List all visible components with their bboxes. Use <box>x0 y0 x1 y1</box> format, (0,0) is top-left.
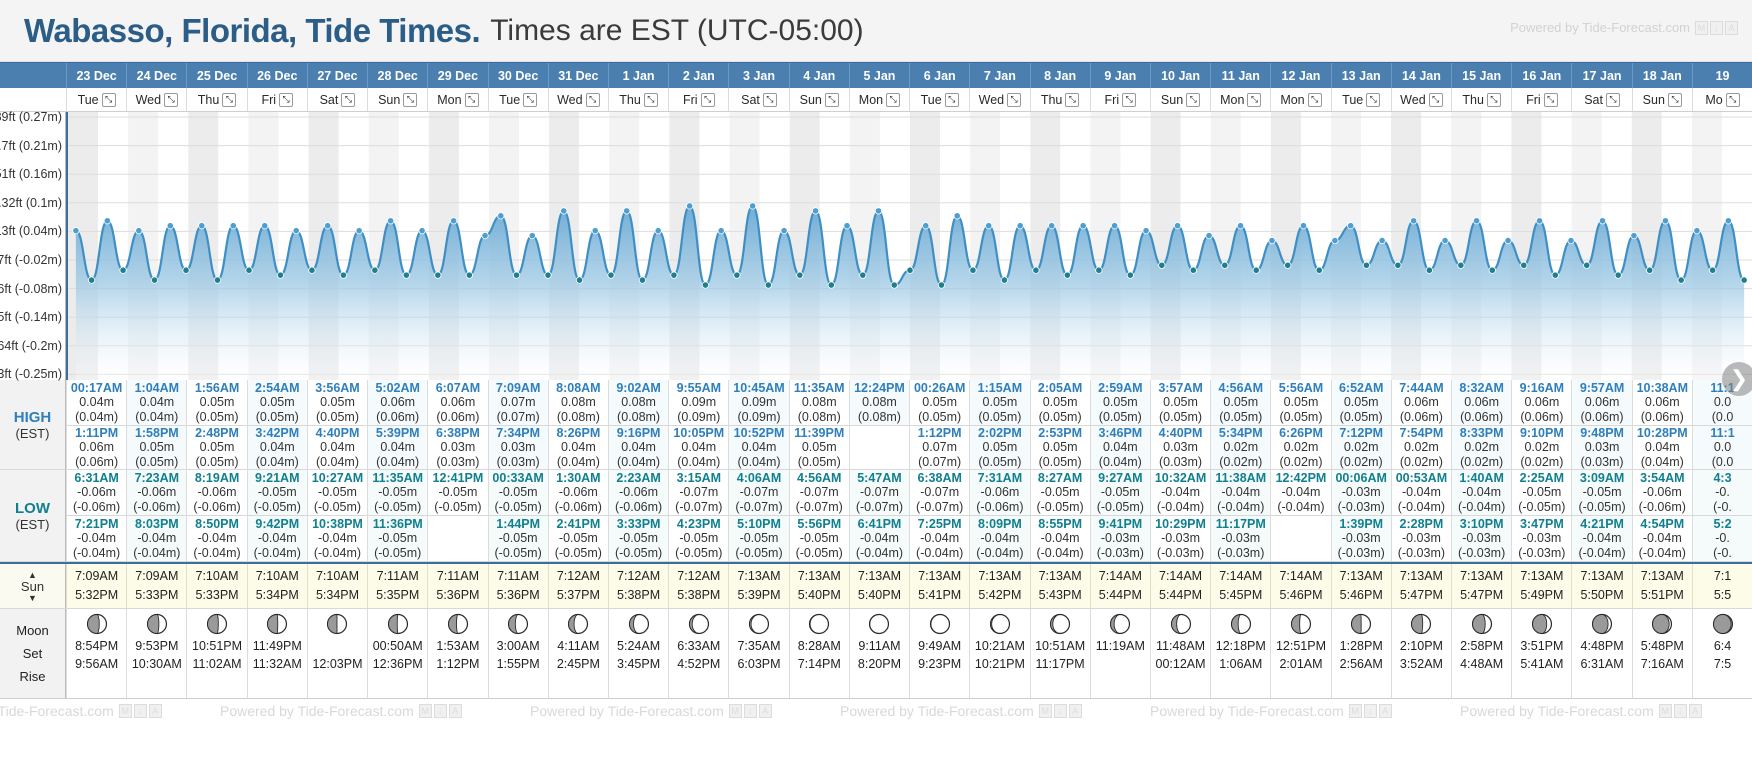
weekday-header-cell[interactable]: Mon⤡ <box>427 88 487 111</box>
tide-cell[interactable]: 1:15AM0.05m(0.05m) <box>969 380 1029 426</box>
moonset-time: 11:48AM <box>1156 637 1205 655</box>
date-header-cell[interactable]: 16 Jan <box>1511 63 1571 88</box>
date-header-cell[interactable]: 30 Dec <box>488 63 548 88</box>
tide-height: 0.02m <box>1284 440 1319 454</box>
sunset-time: 5:38PM <box>617 586 660 605</box>
weekday-header-cell[interactable]: Tue⤡ <box>1331 88 1391 111</box>
tide-cell[interactable]: 6:41PM-0.04m(-0.04m) <box>849 516 909 562</box>
tide-height-alt: (-0.04m) <box>73 546 120 560</box>
weekday-header-cell[interactable]: Tue⤡ <box>909 88 969 111</box>
tide-cell[interactable]: 7:34PM0.03m(0.03m) <box>488 426 548 470</box>
date-header-cell[interactable]: 25 Dec <box>186 63 246 88</box>
tide-height: -0.05m <box>499 485 538 499</box>
tide-cell[interactable]: 1:04AM0.04m(0.04m) <box>126 380 186 426</box>
expand-icon[interactable]: ⤡ <box>825 93 839 107</box>
tide-cell[interactable]: 10:38AM0.06m(0.06m) <box>1632 380 1692 426</box>
tide-height-alt: (0.04m) <box>135 410 178 424</box>
tide-cell[interactable]: 10:28PM0.04m(0.04m) <box>1632 426 1692 470</box>
tide-cell[interactable]: 5:47AM-0.07m(-0.07m) <box>849 470 909 516</box>
tide-cell[interactable]: 8:32AM0.06m(0.06m) <box>1451 380 1511 426</box>
expand-icon[interactable]: ⤡ <box>1606 93 1620 107</box>
tide-cell[interactable]: 4:56AM0.05m(0.05m) <box>1210 380 1270 426</box>
tide-time: 6:07AM <box>436 381 480 395</box>
tide-cell[interactable]: 9:48PM0.03m(0.03m) <box>1571 426 1631 470</box>
expand-icon[interactable]: ⤡ <box>222 93 236 107</box>
sunset-time: 5:45PM <box>1219 586 1262 605</box>
expand-icon[interactable]: ⤡ <box>1122 93 1136 107</box>
moonset-time: 10:21AM <box>975 637 1025 655</box>
badge-icon-2: A <box>449 704 462 718</box>
date-header-cell[interactable]: 23 Dec <box>66 63 126 88</box>
date-header-cell[interactable]: 7 Jan <box>969 63 1029 88</box>
tide-plot-area[interactable] <box>66 112 1752 380</box>
tide-time: 1:40AM <box>1459 471 1503 485</box>
tide-cell[interactable]: 6:38AM-0.07m(-0.07m) <box>909 470 969 516</box>
tide-cell[interactable]: 10:52PM0.04m(0.04m) <box>728 426 788 470</box>
tide-cell[interactable]: 3:57AM0.05m(0.05m) <box>1150 380 1210 426</box>
tide-cell[interactable]: 1:40AM-0.04m(-0.04m) <box>1451 470 1511 516</box>
tide-cell[interactable]: 9:42PM-0.04m(-0.04m) <box>247 516 307 562</box>
y-axis-tick-label: -0.64ft (-0.2m) <box>0 339 62 353</box>
moonset-time: 9:53PM <box>135 637 178 655</box>
tide-height: 0.08m <box>621 395 656 409</box>
tide-extremum-marker <box>1127 272 1133 278</box>
tide-extremum-marker <box>1190 267 1196 273</box>
date-header-cell[interactable]: 18 Jan <box>1632 63 1692 88</box>
tide-cell[interactable]: 9:21AM-0.05m(-0.05m) <box>247 470 307 516</box>
tide-cell[interactable]: 10:29PM-0.03m(-0.03m) <box>1150 516 1210 562</box>
expand-icon[interactable]: ⤡ <box>1186 93 1200 107</box>
date-header-cell[interactable]: 15 Jan <box>1451 63 1511 88</box>
badge-icon-1: ↓ <box>1054 704 1067 718</box>
tide-cell[interactable]: 7:25PM-0.04m(-0.04m) <box>909 516 969 562</box>
tide-cell[interactable]: 1:39PM-0.03m(-0.03m) <box>1331 516 1391 562</box>
tide-cell[interactable]: 9:55AM0.09m(0.09m) <box>668 380 728 426</box>
tide-cell[interactable]: 2:48PM0.05m(0.05m) <box>186 426 246 470</box>
tide-cell[interactable]: 12:24PM0.08m(0.08m) <box>849 380 909 426</box>
tide-cell[interactable]: 5:39PM0.04m(0.04m) <box>367 426 427 470</box>
tide-height-alt: (-0.05m) <box>735 546 782 560</box>
brand-badges-footer: M↓A <box>119 704 162 718</box>
date-header-cell[interactable]: 4 Jan <box>789 63 849 88</box>
date-header-cell[interactable]: 29 Dec <box>427 63 487 88</box>
tide-height: 0.04m <box>320 440 355 454</box>
tide-cell[interactable] <box>1270 516 1330 562</box>
date-header-cell[interactable]: 2 Jan <box>668 63 728 88</box>
tide-cell[interactable]: 3:54AM-0.06m(-0.06m) <box>1632 470 1692 516</box>
weekday-header-cell[interactable]: Thu⤡ <box>186 88 246 111</box>
tide-cell[interactable]: 9:10PM0.02m(0.02m) <box>1511 426 1571 470</box>
tide-extremum-marker <box>466 272 472 278</box>
tide-cell[interactable]: 10:45AM0.09m(0.09m) <box>728 380 788 426</box>
date-header-cell[interactable]: 9 Jan <box>1090 63 1150 88</box>
tide-cell[interactable]: 9:57AM0.06m(0.06m) <box>1571 380 1631 426</box>
weekday-header-cell[interactable]: Mon⤡ <box>1270 88 1330 111</box>
expand-icon[interactable]: ⤡ <box>1487 93 1501 107</box>
sunset-time: 5:33PM <box>196 586 239 605</box>
tide-extremum-marker <box>1017 223 1023 229</box>
tide-height-alt: (0.05m) <box>918 410 961 424</box>
weekday-header-cell[interactable]: Fri⤡ <box>1090 88 1150 111</box>
weekday-header-cell[interactable]: Fri⤡ <box>668 88 728 111</box>
tide-cell[interactable]: 4:3-0.(-0. <box>1692 470 1752 516</box>
date-header-cell[interactable]: 27 Dec <box>307 63 367 88</box>
tide-height: 0.05m <box>802 440 837 454</box>
tide-cell[interactable]: 11:17PM-0.03m(-0.03m) <box>1210 516 1270 562</box>
weekday-header-cell[interactable]: Tue⤡ <box>66 88 126 111</box>
date-header-cell[interactable]: 6 Jan <box>909 63 969 88</box>
page-subtitle: Times are EST (UTC-05:00) <box>490 14 863 48</box>
tide-cell[interactable]: 2:25AM-0.05m(-0.05m) <box>1511 470 1571 516</box>
tide-height-alt: (0.05m) <box>1340 410 1383 424</box>
weekday-header-cell[interactable]: Wed⤡ <box>548 88 608 111</box>
tide-cell[interactable]: 8:33PM0.02m(0.02m) <box>1451 426 1511 470</box>
moon-cell: 7:35AM6:03PM <box>728 609 788 698</box>
tide-cell[interactable]: 3:56AM0.05m(0.05m) <box>307 380 367 426</box>
weekday-header-cell[interactable]: Fri⤡ <box>1511 88 1571 111</box>
moon-phase-icon <box>1170 613 1192 635</box>
tide-height-alt: (0.07m) <box>497 410 540 424</box>
moon-phase-icon <box>146 613 168 635</box>
date-header-cell[interactable]: 5 Jan <box>849 63 909 88</box>
tide-cell[interactable]: 00:33AM-0.05m(-0.05m) <box>488 470 548 516</box>
low-tide-pm-row: 7:21PM-0.04m(-0.04m)8:03PM-0.04m(-0.04m)… <box>66 516 1752 562</box>
moon-phase-icon <box>1290 613 1312 635</box>
expand-icon[interactable]: ⤡ <box>164 93 178 107</box>
tide-time: 4:56AM <box>1219 381 1263 395</box>
tide-cell[interactable]: 8:50PM-0.04m(-0.04m) <box>186 516 246 562</box>
sunrise-time: 7:13AM <box>1460 567 1503 586</box>
tide-cell[interactable]: 00:26AM0.05m(0.05m) <box>909 380 969 426</box>
tide-time: 3:46PM <box>1098 426 1142 440</box>
weekday-header-cell[interactable]: Sat⤡ <box>728 88 788 111</box>
date-header-cell[interactable]: 10 Jan <box>1150 63 1210 88</box>
footer-watermark: Powered by Tide-Forecast.comM↓A <box>840 703 1082 719</box>
moonrise-time: 7:16AM <box>1641 655 1684 673</box>
weekday-header-cell[interactable]: Sat⤡ <box>1571 88 1631 111</box>
tide-cell[interactable]: 6:38PM0.03m(0.03m) <box>427 426 487 470</box>
tide-cell[interactable]: 7:12PM0.02m(0.02m) <box>1331 426 1391 470</box>
tide-cell[interactable]: 9:16AM0.06m(0.06m) <box>1511 380 1571 426</box>
tide-cell[interactable]: 7:21PM-0.04m(-0.04m) <box>66 516 126 562</box>
tide-height-alt: (0.04m) <box>737 455 780 469</box>
tide-height: -0.04m <box>1583 531 1622 545</box>
expand-icon[interactable]: ⤡ <box>1544 93 1558 107</box>
expand-icon[interactable]: ⤡ <box>102 93 116 107</box>
tide-height: -0.06m <box>137 485 176 499</box>
tide-time: 4:40PM <box>1159 426 1203 440</box>
tide-cell[interactable]: 3:42PM0.04m(0.04m) <box>247 426 307 470</box>
moonset-time: 1:53AM <box>436 637 479 655</box>
tide-time: 9:10PM <box>1520 426 1564 440</box>
expand-icon[interactable]: ⤡ <box>341 93 355 107</box>
expand-icon[interactable]: ⤡ <box>1308 93 1322 107</box>
y-axis-tick-label: 0.51ft (0.16m) <box>0 167 62 181</box>
tide-cell[interactable]: 7:54PM0.02m(0.02m) <box>1391 426 1451 470</box>
tide-cell[interactable]: 2:59AM0.05m(0.05m) <box>1090 380 1150 426</box>
tide-cell[interactable]: 1:11PM0.06m(0.06m) <box>66 426 126 470</box>
tide-cell[interactable]: 3:33PM-0.05m(-0.05m) <box>608 516 668 562</box>
sunset-time: 5:41PM <box>918 586 961 605</box>
date-header-cell[interactable]: 26 Dec <box>247 63 307 88</box>
tide-cell[interactable]: 4:40PM0.04m(0.04m) <box>307 426 367 470</box>
date-header-cell[interactable]: 8 Jan <box>1030 63 1090 88</box>
tide-cell[interactable]: 00:17AM0.04m(0.04m) <box>66 380 126 426</box>
tide-cell[interactable]: 10:05PM0.04m(0.04m) <box>668 426 728 470</box>
tide-cell[interactable]: 11:35AM0.08m(0.08m) <box>789 380 849 426</box>
tide-cell[interactable]: 3:10PM-0.03m(-0.03m) <box>1451 516 1511 562</box>
tide-extremum-marker <box>1489 267 1495 273</box>
expand-icon[interactable]: ⤡ <box>1726 93 1740 107</box>
tide-cell[interactable]: 5:02AM0.06m(0.06m) <box>367 380 427 426</box>
badge-icon-2: A <box>759 704 772 718</box>
tide-cell[interactable]: 4:21PM-0.04m(-0.04m) <box>1571 516 1631 562</box>
tide-height: -0.06m <box>619 485 658 499</box>
weekday-label: Sat <box>1584 93 1603 107</box>
tide-cell[interactable]: 1:58PM0.05m(0.05m) <box>126 426 186 470</box>
moon-cell: 10:21AM10:21PM <box>969 609 1029 698</box>
expand-icon[interactable]: ⤡ <box>465 93 479 107</box>
tide-cell[interactable]: 7:31AM-0.06m(-0.06m) <box>969 470 1029 516</box>
tide-cell[interactable]: 5:34PM0.02m(0.02m) <box>1210 426 1270 470</box>
tide-height-alt: (-0.07m) <box>856 500 903 514</box>
weekday-header-cell[interactable]: Sun⤡ <box>367 88 427 111</box>
tide-cell[interactable]: 8:03PM-0.04m(-0.04m) <box>126 516 186 562</box>
tide-extremum-marker <box>262 223 268 229</box>
date-header-cell[interactable]: 17 Jan <box>1571 63 1631 88</box>
tide-cell[interactable]: 8:55PM-0.04m(-0.04m) <box>1030 516 1090 562</box>
moonset-time: 12:18PM <box>1216 637 1266 655</box>
tide-cell[interactable]: 11:38AM-0.04m(-0.04m) <box>1210 470 1270 516</box>
weekday-label: Thu <box>1041 93 1063 107</box>
weekday-header-cell[interactable]: Sat⤡ <box>307 88 367 111</box>
tide-extremum-marker <box>875 208 881 214</box>
tide-cell[interactable]: 2:05AM0.05m(0.05m) <box>1030 380 1090 426</box>
weekday-header-cell[interactable]: Thu⤡ <box>1030 88 1090 111</box>
tide-cell[interactable]: 9:41PM-0.03m(-0.03m) <box>1090 516 1150 562</box>
tide-cell[interactable]: 2:02PM0.05m(0.05m) <box>969 426 1029 470</box>
tide-cell[interactable]: 3:09AM-0.05m(-0.05m) <box>1571 470 1631 516</box>
tide-cell[interactable] <box>427 516 487 562</box>
date-header-cell[interactable]: 12 Jan <box>1270 63 1330 88</box>
tide-cell[interactable]: 1:12PM0.07m(0.07m) <box>909 426 969 470</box>
tide-cell[interactable]: 6:07AM0.06m(0.06m) <box>427 380 487 426</box>
moon-phase-icon <box>266 613 288 635</box>
sunset-time: 5:38PM <box>677 586 720 605</box>
sunset-time: 5:47PM <box>1400 586 1443 605</box>
tide-cell[interactable]: 11:36PM-0.05m(-0.05m) <box>367 516 427 562</box>
tide-cell[interactable]: 2:54AM0.05m(0.05m) <box>247 380 307 426</box>
weekday-label: Sat <box>741 93 760 107</box>
weekday-header-cell[interactable]: Wed⤡ <box>969 88 1029 111</box>
expand-icon[interactable]: ⤡ <box>1366 93 1380 107</box>
tide-time: 5:56AM <box>1279 381 1323 395</box>
weekday-header-cell[interactable]: Mon⤡ <box>849 88 909 111</box>
date-header-cell[interactable]: 24 Dec <box>126 63 186 88</box>
tide-cell[interactable]: 6:26PM0.02m(0.02m) <box>1270 426 1330 470</box>
tide-cell[interactable]: 5:56PM-0.05m(-0.05m) <box>789 516 849 562</box>
tide-cell[interactable]: 8:26PM0.04m(0.04m) <box>548 426 608 470</box>
weekday-header-cell[interactable]: Wed⤡ <box>1391 88 1451 111</box>
expand-icon[interactable]: ⤡ <box>644 93 658 107</box>
date-header-cell[interactable]: 3 Jan <box>728 63 788 88</box>
tide-time: 10:32AM <box>1155 471 1206 485</box>
tide-cell[interactable]: 5:56AM0.05m(0.05m) <box>1270 380 1330 426</box>
expand-icon[interactable]: ⤡ <box>886 93 900 107</box>
moon-cell: 1:28PM2:56AM <box>1331 609 1391 698</box>
tide-cell[interactable]: 00:53AM-0.04m(-0.04m) <box>1391 470 1451 516</box>
tide-height-alt: (0.05m) <box>256 410 299 424</box>
tide-cell[interactable]: 3:15AM-0.07m(-0.07m) <box>668 470 728 516</box>
scroll-right-arrow[interactable]: ❯ <box>1722 362 1752 396</box>
weekday-header-cell[interactable]: Mon⤡ <box>1210 88 1270 111</box>
expand-icon[interactable]: ⤡ <box>763 93 777 107</box>
tide-extremum-marker <box>183 267 189 273</box>
tide-cell[interactable]: 00:06AM-0.03m(-0.03m) <box>1331 470 1391 516</box>
tide-cell[interactable]: 5:10PM-0.05m(-0.05m) <box>728 516 788 562</box>
sunrise-time: 7:13AM <box>1039 567 1082 586</box>
tide-cell[interactable]: 1:56AM0.05m(0.05m) <box>186 380 246 426</box>
tide-cell[interactable]: 2:41PM-0.05m(-0.05m) <box>548 516 608 562</box>
moon-row: Moon Set Rise 8:54PM9:56AM9:53PM10:30AM1… <box>0 608 1752 698</box>
tide-height-alt: (-0.06m) <box>615 500 662 514</box>
tide-cell[interactable]: 9:02AM0.08m(0.08m) <box>608 380 668 426</box>
tide-height-alt: (-0.04m) <box>856 546 903 560</box>
tide-height-alt: (-0.06m) <box>73 500 120 514</box>
moonset-time: 3:00AM <box>497 637 540 655</box>
expand-icon[interactable]: ⤡ <box>1065 93 1079 107</box>
tide-cell[interactable]: 7:09AM0.07m(0.07m) <box>488 380 548 426</box>
sunrise-time: 7:10AM <box>316 567 359 586</box>
tide-cell[interactable]: 2:28PM-0.03m(-0.03m) <box>1391 516 1451 562</box>
y-axis-tick-label: 0.32ft (0.1m) <box>0 196 62 210</box>
date-header-cell[interactable]: 11 Jan <box>1210 63 1270 88</box>
expand-icon[interactable]: ⤡ <box>279 93 293 107</box>
tide-cell[interactable]: 11:35AM-0.05m(-0.05m) <box>367 470 427 516</box>
weekday-header-cell[interactable]: Sun⤡ <box>1632 88 1692 111</box>
tide-cell[interactable]: 10:38PM-0.04m(-0.04m) <box>307 516 367 562</box>
tide-time: 2:41PM <box>556 517 600 531</box>
date-header-cell[interactable]: 31 Dec <box>548 63 608 88</box>
moonrise-time <box>1119 655 1122 673</box>
moon-cell: 11:19AM <box>1090 609 1150 698</box>
sunset-time: 5:40PM <box>858 586 901 605</box>
tide-cell[interactable]: 1:44PM-0.05m(-0.05m) <box>488 516 548 562</box>
tide-cell[interactable]: 5:2-0.(-0. <box>1692 516 1752 562</box>
date-header-cell[interactable]: 14 Jan <box>1391 63 1451 88</box>
weekday-header-cell[interactable]: Mo⤡ <box>1692 88 1752 111</box>
tide-cell[interactable]: 4:40PM0.03m(0.03m) <box>1150 426 1210 470</box>
tide-time: 10:05PM <box>673 426 724 440</box>
expand-icon[interactable]: ⤡ <box>1007 93 1021 107</box>
tide-cell[interactable]: 2:23AM-0.06m(-0.06m) <box>608 470 668 516</box>
tide-cell[interactable]: 7:44AM0.06m(0.06m) <box>1391 380 1451 426</box>
tide-cell[interactable]: 4:54PM-0.04m(-0.04m) <box>1632 516 1692 562</box>
tide-extremum-marker <box>372 267 378 273</box>
tide-height: 0.03m <box>501 440 536 454</box>
weekday-header-cell[interactable]: Fri⤡ <box>247 88 307 111</box>
date-header-cell[interactable]: 1 Jan <box>608 63 668 88</box>
expand-icon[interactable]: ⤡ <box>1429 93 1443 107</box>
tide-height: 0.02m <box>1524 440 1559 454</box>
tide-height: -0.06m <box>198 485 237 499</box>
weekday-header-cell[interactable]: Tue⤡ <box>488 88 548 111</box>
tide-height: 0.04m <box>380 440 415 454</box>
high-tide-am-row: 00:17AM0.04m(0.04m)1:04AM0.04m(0.04m)1:5… <box>66 380 1752 426</box>
tide-height: 0.02m <box>1344 440 1379 454</box>
tide-time: 6:38AM <box>917 471 961 485</box>
expand-icon[interactable]: ⤡ <box>945 93 959 107</box>
tide-height-alt: (-0.04m) <box>1217 500 1264 514</box>
tide-cell[interactable]: 12:41PM-0.05m(-0.05m) <box>427 470 487 516</box>
tide-cell[interactable]: 1:30AM-0.06m(-0.06m) <box>548 470 608 516</box>
tide-cell[interactable]: 6:31AM-0.06m(-0.06m) <box>66 470 126 516</box>
tide-height-alt: (-0.05m) <box>675 546 722 560</box>
tide-cell[interactable]: 9:27AM-0.05m(-0.05m) <box>1090 470 1150 516</box>
tide-cell[interactable] <box>849 426 909 470</box>
tide-cell[interactable]: 8:08AM0.08m(0.08m) <box>548 380 608 426</box>
weekday-header-cell[interactable]: Wed⤡ <box>126 88 186 111</box>
tide-cell[interactable]: 11:39PM0.05m(0.05m) <box>789 426 849 470</box>
expand-icon[interactable]: ⤡ <box>1247 93 1261 107</box>
tide-extremum-marker <box>860 272 866 278</box>
tide-cell[interactable]: 4:56AM-0.07m(-0.07m) <box>789 470 849 516</box>
tide-cell[interactable]: 3:47PM-0.03m(-0.03m) <box>1511 516 1571 562</box>
tide-cell[interactable]: 2:53PM0.05m(0.05m) <box>1030 426 1090 470</box>
sun-cell: 7:10AM5:34PM <box>307 564 367 608</box>
tide-cell[interactable]: 11:10.0(0.0 <box>1692 426 1752 470</box>
tide-cell[interactable]: 4:23PM-0.05m(-0.05m) <box>668 516 728 562</box>
weekday-header-cell[interactable]: Sun⤡ <box>1150 88 1210 111</box>
tide-cell[interactable]: 12:42PM-0.04m(-0.04m) <box>1270 470 1330 516</box>
tide-cell[interactable]: 10:32AM-0.04m(-0.04m) <box>1150 470 1210 516</box>
tide-cell[interactable]: 8:19AM-0.06m(-0.06m) <box>186 470 246 516</box>
tide-height-alt: (0.04m) <box>617 455 660 469</box>
sunrise-time: 7:1 <box>1714 567 1731 586</box>
tide-height-alt: (-0.04m) <box>1277 500 1324 514</box>
date-header-cell[interactable]: 28 Dec <box>367 63 427 88</box>
tide-time: 12:42PM <box>1276 471 1327 485</box>
moonrise-time: 12:03PM <box>312 655 362 673</box>
tide-cell[interactable]: 3:46PM0.04m(0.04m) <box>1090 426 1150 470</box>
date-header-cell[interactable]: 19 <box>1692 63 1752 88</box>
expand-icon[interactable]: ⤡ <box>701 93 715 107</box>
tide-height-alt: (-0.03m) <box>1518 546 1565 560</box>
expand-icon[interactable]: ⤡ <box>523 93 537 107</box>
expand-icon[interactable]: ⤡ <box>403 93 417 107</box>
weekday-header-cell[interactable]: Thu⤡ <box>1451 88 1511 111</box>
sunset-time: 5:32PM <box>75 586 118 605</box>
tide-height: -0.05m <box>559 531 598 545</box>
tide-cell[interactable]: 9:16PM0.04m(0.04m) <box>608 426 668 470</box>
tide-extremum-marker <box>136 227 142 233</box>
tide-cell[interactable]: 6:52AM0.05m(0.05m) <box>1331 380 1391 426</box>
weekday-header-cell[interactable]: Sun⤡ <box>789 88 849 111</box>
tide-extremum-marker <box>1206 232 1212 238</box>
expand-icon[interactable]: ⤡ <box>586 93 600 107</box>
tide-cell[interactable]: 8:09PM-0.04m(-0.04m) <box>969 516 1029 562</box>
tide-cell[interactable]: 10:27AM-0.05m(-0.05m) <box>307 470 367 516</box>
moonset-time: 00:50AM <box>373 637 423 655</box>
tide-cell[interactable]: 4:06AM-0.07m(-0.07m) <box>728 470 788 516</box>
tide-cell[interactable]: 7:23AM-0.06m(-0.06m) <box>126 470 186 516</box>
tide-height: -0.07m <box>740 485 779 499</box>
weekday-header-cell[interactable]: Thu⤡ <box>608 88 668 111</box>
date-header-cell[interactable]: 13 Jan <box>1331 63 1391 88</box>
tide-cell[interactable]: 8:27AM-0.05m(-0.05m) <box>1030 470 1090 516</box>
tide-height: 0.07m <box>922 440 957 454</box>
expand-icon[interactable]: ⤡ <box>1668 93 1682 107</box>
